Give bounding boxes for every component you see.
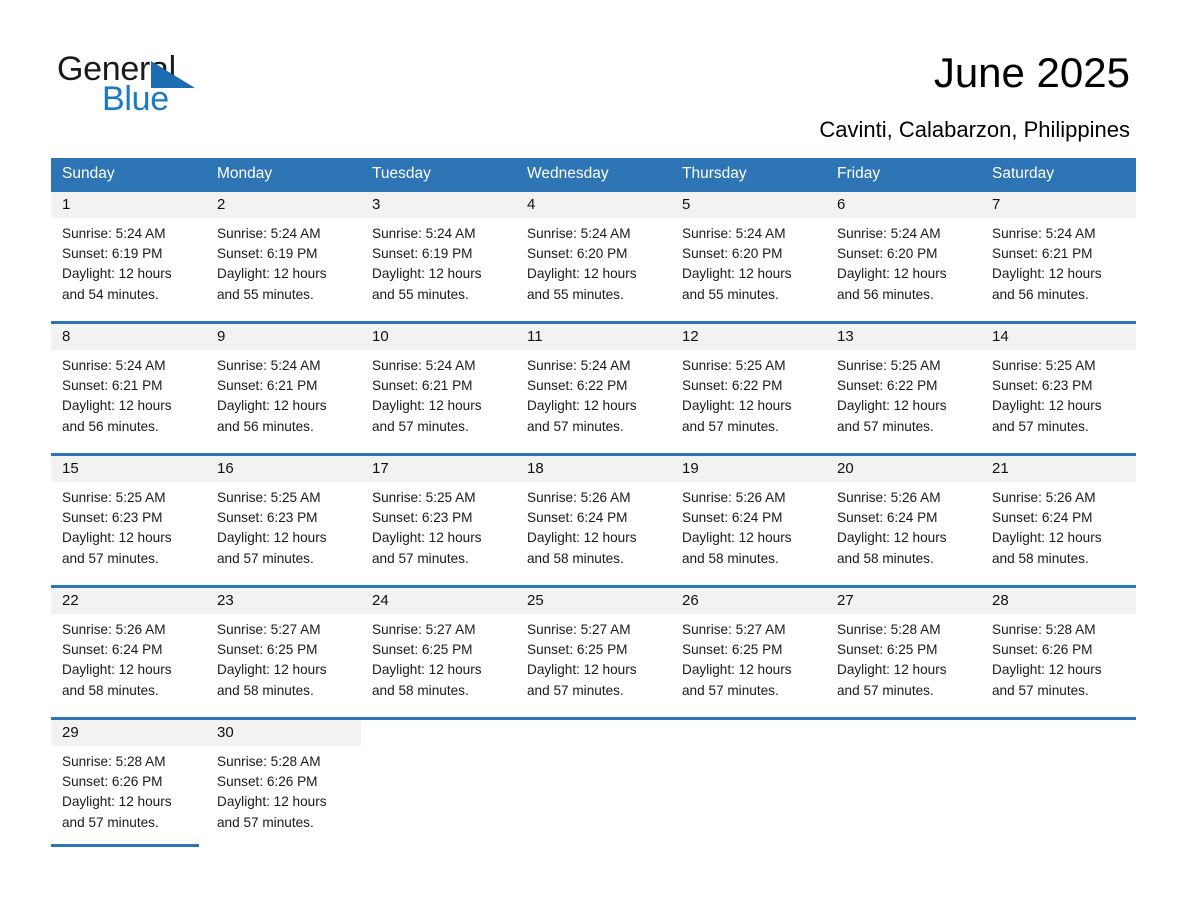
sunrise-text: Sunrise: 5:25 AM xyxy=(837,356,970,376)
sunset-text: Sunset: 6:23 PM xyxy=(992,376,1125,396)
sunset-text: Sunset: 6:20 PM xyxy=(527,244,660,264)
sunset-text: Sunset: 6:19 PM xyxy=(217,244,350,264)
day-details: Sunrise: 5:24 AMSunset: 6:21 PMDaylight:… xyxy=(981,218,1136,305)
sunrise-text: Sunrise: 5:26 AM xyxy=(62,620,195,640)
day-details: Sunrise: 5:25 AMSunset: 6:22 PMDaylight:… xyxy=(671,350,826,437)
daylight-text: Daylight: 12 hours and 57 minutes. xyxy=(992,396,1125,436)
sunrise-text: Sunrise: 5:24 AM xyxy=(682,224,815,244)
sunset-text: Sunset: 6:24 PM xyxy=(682,508,815,528)
calendar-day-cell-empty xyxy=(981,720,1136,844)
calendar-week-row: 22Sunrise: 5:26 AMSunset: 6:24 PMDayligh… xyxy=(51,585,1136,717)
day-number: 6 xyxy=(826,192,981,218)
daylight-text: Daylight: 12 hours and 55 minutes. xyxy=(217,264,350,304)
calendar-page: General Blue June 2025 Cavinti, Calabarz… xyxy=(0,0,1188,918)
calendar-day-cell[interactable]: 28Sunrise: 5:28 AMSunset: 6:26 PMDayligh… xyxy=(981,588,1136,717)
daylight-text: Daylight: 12 hours and 58 minutes. xyxy=(217,660,350,700)
daylight-text: Daylight: 12 hours and 57 minutes. xyxy=(217,792,350,832)
sunset-text: Sunset: 6:26 PM xyxy=(62,772,195,792)
weekday-header-wednesday: Wednesday xyxy=(516,158,671,189)
daylight-text: Daylight: 12 hours and 58 minutes. xyxy=(62,660,195,700)
weekday-header-tuesday: Tuesday xyxy=(361,158,516,189)
calendar-day-cell[interactable]: 19Sunrise: 5:26 AMSunset: 6:24 PMDayligh… xyxy=(671,456,826,585)
daylight-text: Daylight: 12 hours and 56 minutes. xyxy=(992,264,1125,304)
grid-bottom-rule xyxy=(51,844,199,847)
day-number: 14 xyxy=(981,324,1136,350)
calendar-day-cell[interactable]: 8Sunrise: 5:24 AMSunset: 6:21 PMDaylight… xyxy=(51,324,206,453)
day-details: Sunrise: 5:25 AMSunset: 6:23 PMDaylight:… xyxy=(981,350,1136,437)
daylight-text: Daylight: 12 hours and 55 minutes. xyxy=(372,264,505,304)
daylight-text: Daylight: 12 hours and 57 minutes. xyxy=(682,396,815,436)
calendar-day-cell-empty xyxy=(826,720,981,844)
calendar-day-cell[interactable]: 18Sunrise: 5:26 AMSunset: 6:24 PMDayligh… xyxy=(516,456,671,585)
calendar-day-cell[interactable]: 12Sunrise: 5:25 AMSunset: 6:22 PMDayligh… xyxy=(671,324,826,453)
sunset-text: Sunset: 6:22 PM xyxy=(527,376,660,396)
calendar-day-cell[interactable]: 3Sunrise: 5:24 AMSunset: 6:19 PMDaylight… xyxy=(361,192,516,321)
day-number: 3 xyxy=(361,192,516,218)
daylight-text: Daylight: 12 hours and 58 minutes. xyxy=(527,528,660,568)
day-details: Sunrise: 5:25 AMSunset: 6:23 PMDaylight:… xyxy=(51,482,206,569)
day-number xyxy=(361,720,516,746)
calendar-day-cell[interactable]: 20Sunrise: 5:26 AMSunset: 6:24 PMDayligh… xyxy=(826,456,981,585)
calendar-day-cell[interactable]: 21Sunrise: 5:26 AMSunset: 6:24 PMDayligh… xyxy=(981,456,1136,585)
sunset-text: Sunset: 6:24 PM xyxy=(62,640,195,660)
page-title: June 2025 xyxy=(934,48,1130,98)
day-number: 22 xyxy=(51,588,206,614)
daylight-text: Daylight: 12 hours and 57 minutes. xyxy=(837,396,970,436)
day-number: 30 xyxy=(206,720,361,746)
daylight-text: Daylight: 12 hours and 54 minutes. xyxy=(62,264,195,304)
sunset-text: Sunset: 6:21 PM xyxy=(372,376,505,396)
sunrise-text: Sunrise: 5:25 AM xyxy=(217,488,350,508)
day-number: 7 xyxy=(981,192,1136,218)
day-details: Sunrise: 5:24 AMSunset: 6:21 PMDaylight:… xyxy=(51,350,206,437)
daylight-text: Daylight: 12 hours and 57 minutes. xyxy=(372,396,505,436)
sunset-text: Sunset: 6:25 PM xyxy=(372,640,505,660)
sunset-text: Sunset: 6:21 PM xyxy=(217,376,350,396)
day-details: Sunrise: 5:25 AMSunset: 6:23 PMDaylight:… xyxy=(361,482,516,569)
day-number xyxy=(981,720,1136,746)
calendar-week-row: 8Sunrise: 5:24 AMSunset: 6:21 PMDaylight… xyxy=(51,321,1136,453)
calendar-week-row: 15Sunrise: 5:25 AMSunset: 6:23 PMDayligh… xyxy=(51,453,1136,585)
calendar-weeks: 1Sunrise: 5:24 AMSunset: 6:19 PMDaylight… xyxy=(51,189,1136,844)
day-number: 2 xyxy=(206,192,361,218)
day-details: Sunrise: 5:24 AMSunset: 6:20 PMDaylight:… xyxy=(826,218,981,305)
daylight-text: Daylight: 12 hours and 57 minutes. xyxy=(527,660,660,700)
day-number: 10 xyxy=(361,324,516,350)
day-number: 25 xyxy=(516,588,671,614)
day-details: Sunrise: 5:26 AMSunset: 6:24 PMDaylight:… xyxy=(671,482,826,569)
day-details: Sunrise: 5:24 AMSunset: 6:21 PMDaylight:… xyxy=(361,350,516,437)
day-number: 21 xyxy=(981,456,1136,482)
weekday-header-friday: Friday xyxy=(826,158,981,189)
sunset-text: Sunset: 6:25 PM xyxy=(217,640,350,660)
day-details: Sunrise: 5:24 AMSunset: 6:22 PMDaylight:… xyxy=(516,350,671,437)
day-number: 17 xyxy=(361,456,516,482)
sunset-text: Sunset: 6:23 PM xyxy=(62,508,195,528)
day-details: Sunrise: 5:24 AMSunset: 6:19 PMDaylight:… xyxy=(206,218,361,305)
sunset-text: Sunset: 6:21 PM xyxy=(62,376,195,396)
sunrise-text: Sunrise: 5:26 AM xyxy=(527,488,660,508)
calendar-day-cell[interactable]: 7Sunrise: 5:24 AMSunset: 6:21 PMDaylight… xyxy=(981,192,1136,321)
day-number: 24 xyxy=(361,588,516,614)
day-number: 26 xyxy=(671,588,826,614)
daylight-text: Daylight: 12 hours and 58 minutes. xyxy=(682,528,815,568)
sunrise-text: Sunrise: 5:24 AM xyxy=(527,224,660,244)
day-details: Sunrise: 5:24 AMSunset: 6:19 PMDaylight:… xyxy=(51,218,206,305)
day-details: Sunrise: 5:28 AMSunset: 6:26 PMDaylight:… xyxy=(981,614,1136,701)
sunrise-text: Sunrise: 5:24 AM xyxy=(992,224,1125,244)
sunrise-text: Sunrise: 5:25 AM xyxy=(992,356,1125,376)
calendar-day-cell[interactable]: 1Sunrise: 5:24 AMSunset: 6:19 PMDaylight… xyxy=(51,192,206,321)
day-number: 11 xyxy=(516,324,671,350)
sunrise-text: Sunrise: 5:25 AM xyxy=(372,488,505,508)
day-number: 8 xyxy=(51,324,206,350)
sunset-text: Sunset: 6:23 PM xyxy=(217,508,350,528)
weekday-header-row: Sunday Monday Tuesday Wednesday Thursday… xyxy=(51,158,1136,189)
sunset-text: Sunset: 6:22 PM xyxy=(837,376,970,396)
day-details: Sunrise: 5:26 AMSunset: 6:24 PMDaylight:… xyxy=(826,482,981,569)
sunset-text: Sunset: 6:26 PM xyxy=(992,640,1125,660)
calendar-day-cell[interactable]: 16Sunrise: 5:25 AMSunset: 6:23 PMDayligh… xyxy=(206,456,361,585)
calendar-day-cell-empty xyxy=(671,720,826,844)
calendar-day-cell[interactable]: 13Sunrise: 5:25 AMSunset: 6:22 PMDayligh… xyxy=(826,324,981,453)
general-blue-logo[interactable]: General Blue xyxy=(57,50,357,120)
sunrise-text: Sunrise: 5:24 AM xyxy=(217,356,350,376)
daylight-text: Daylight: 12 hours and 58 minutes. xyxy=(372,660,505,700)
sunrise-text: Sunrise: 5:25 AM xyxy=(682,356,815,376)
sunrise-text: Sunrise: 5:25 AM xyxy=(62,488,195,508)
sunset-text: Sunset: 6:24 PM xyxy=(992,508,1125,528)
calendar-day-cell[interactable]: 4Sunrise: 5:24 AMSunset: 6:20 PMDaylight… xyxy=(516,192,671,321)
sunset-text: Sunset: 6:19 PM xyxy=(372,244,505,264)
sunrise-text: Sunrise: 5:26 AM xyxy=(682,488,815,508)
calendar-day-cell[interactable]: 15Sunrise: 5:25 AMSunset: 6:23 PMDayligh… xyxy=(51,456,206,585)
weekday-header-sunday: Sunday xyxy=(51,158,206,189)
daylight-text: Daylight: 12 hours and 56 minutes. xyxy=(837,264,970,304)
day-details: Sunrise: 5:24 AMSunset: 6:20 PMDaylight:… xyxy=(516,218,671,305)
sunrise-text: Sunrise: 5:24 AM xyxy=(837,224,970,244)
daylight-text: Daylight: 12 hours and 57 minutes. xyxy=(682,660,815,700)
sunset-text: Sunset: 6:20 PM xyxy=(682,244,815,264)
day-number: 19 xyxy=(671,456,826,482)
day-details: Sunrise: 5:28 AMSunset: 6:26 PMDaylight:… xyxy=(51,746,206,833)
daylight-text: Daylight: 12 hours and 57 minutes. xyxy=(217,528,350,568)
sunrise-text: Sunrise: 5:26 AM xyxy=(837,488,970,508)
sunrise-text: Sunrise: 5:28 AM xyxy=(992,620,1125,640)
calendar-day-cell[interactable]: 27Sunrise: 5:28 AMSunset: 6:25 PMDayligh… xyxy=(826,588,981,717)
day-details: Sunrise: 5:27 AMSunset: 6:25 PMDaylight:… xyxy=(516,614,671,701)
day-details: Sunrise: 5:27 AMSunset: 6:25 PMDaylight:… xyxy=(206,614,361,701)
sunset-text: Sunset: 6:19 PM xyxy=(62,244,195,264)
location-subtitle: Cavinti, Calabarzon, Philippines xyxy=(819,116,1130,144)
day-details: Sunrise: 5:27 AMSunset: 6:25 PMDaylight:… xyxy=(671,614,826,701)
sunset-text: Sunset: 6:22 PM xyxy=(682,376,815,396)
day-number: 16 xyxy=(206,456,361,482)
sunset-text: Sunset: 6:25 PM xyxy=(837,640,970,660)
calendar-week-row: 29Sunrise: 5:28 AMSunset: 6:26 PMDayligh… xyxy=(51,717,1136,844)
sunset-text: Sunset: 6:21 PM xyxy=(992,244,1125,264)
sunrise-text: Sunrise: 5:27 AM xyxy=(217,620,350,640)
daylight-text: Daylight: 12 hours and 57 minutes. xyxy=(837,660,970,700)
daylight-text: Daylight: 12 hours and 57 minutes. xyxy=(62,528,195,568)
weekday-header-monday: Monday xyxy=(206,158,361,189)
day-details: Sunrise: 5:26 AMSunset: 6:24 PMDaylight:… xyxy=(981,482,1136,569)
calendar-day-cell[interactable]: 25Sunrise: 5:27 AMSunset: 6:25 PMDayligh… xyxy=(516,588,671,717)
day-number xyxy=(516,720,671,746)
calendar-day-cell[interactable]: 10Sunrise: 5:24 AMSunset: 6:21 PMDayligh… xyxy=(361,324,516,453)
day-details: Sunrise: 5:26 AMSunset: 6:24 PMDaylight:… xyxy=(516,482,671,569)
sunrise-text: Sunrise: 5:28 AM xyxy=(217,752,350,772)
page-header: General Blue June 2025 Cavinti, Calabarz… xyxy=(0,0,1188,158)
day-number: 27 xyxy=(826,588,981,614)
daylight-text: Daylight: 12 hours and 57 minutes. xyxy=(527,396,660,436)
calendar-day-cell[interactable]: 24Sunrise: 5:27 AMSunset: 6:25 PMDayligh… xyxy=(361,588,516,717)
daylight-text: Daylight: 12 hours and 57 minutes. xyxy=(372,528,505,568)
day-number: 9 xyxy=(206,324,361,350)
calendar-day-cell[interactable]: 6Sunrise: 5:24 AMSunset: 6:20 PMDaylight… xyxy=(826,192,981,321)
sunset-text: Sunset: 6:25 PM xyxy=(682,640,815,660)
day-number: 1 xyxy=(51,192,206,218)
calendar-day-cell[interactable]: 29Sunrise: 5:28 AMSunset: 6:26 PMDayligh… xyxy=(51,720,206,844)
calendar-day-cell-empty xyxy=(516,720,671,844)
daylight-text: Daylight: 12 hours and 56 minutes. xyxy=(217,396,350,436)
sunrise-text: Sunrise: 5:27 AM xyxy=(372,620,505,640)
day-number: 13 xyxy=(826,324,981,350)
calendar-day-cell[interactable]: 14Sunrise: 5:25 AMSunset: 6:23 PMDayligh… xyxy=(981,324,1136,453)
calendar-week-row: 1Sunrise: 5:24 AMSunset: 6:19 PMDaylight… xyxy=(51,189,1136,321)
day-details: Sunrise: 5:26 AMSunset: 6:24 PMDaylight:… xyxy=(51,614,206,701)
day-details: Sunrise: 5:25 AMSunset: 6:22 PMDaylight:… xyxy=(826,350,981,437)
sunset-text: Sunset: 6:24 PM xyxy=(837,508,970,528)
calendar-day-cell[interactable]: 17Sunrise: 5:25 AMSunset: 6:23 PMDayligh… xyxy=(361,456,516,585)
day-number xyxy=(826,720,981,746)
sunset-text: Sunset: 6:25 PM xyxy=(527,640,660,660)
day-details: Sunrise: 5:24 AMSunset: 6:21 PMDaylight:… xyxy=(206,350,361,437)
day-number: 5 xyxy=(671,192,826,218)
calendar-day-cell[interactable]: 11Sunrise: 5:24 AMSunset: 6:22 PMDayligh… xyxy=(516,324,671,453)
sunrise-text: Sunrise: 5:28 AM xyxy=(62,752,195,772)
day-number: 15 xyxy=(51,456,206,482)
day-details: Sunrise: 5:25 AMSunset: 6:23 PMDaylight:… xyxy=(206,482,361,569)
calendar-day-cell[interactable]: 23Sunrise: 5:27 AMSunset: 6:25 PMDayligh… xyxy=(206,588,361,717)
sunrise-text: Sunrise: 5:24 AM xyxy=(372,224,505,244)
daylight-text: Daylight: 12 hours and 58 minutes. xyxy=(837,528,970,568)
day-details: Sunrise: 5:27 AMSunset: 6:25 PMDaylight:… xyxy=(361,614,516,701)
calendar-day-cell-empty xyxy=(361,720,516,844)
calendar-day-cell[interactable]: 26Sunrise: 5:27 AMSunset: 6:25 PMDayligh… xyxy=(671,588,826,717)
sunset-text: Sunset: 6:20 PM xyxy=(837,244,970,264)
day-number: 20 xyxy=(826,456,981,482)
sunset-text: Sunset: 6:24 PM xyxy=(527,508,660,528)
sunrise-sunset-calendar: Sunday Monday Tuesday Wednesday Thursday… xyxy=(51,158,1136,847)
sunrise-text: Sunrise: 5:27 AM xyxy=(682,620,815,640)
sunrise-text: Sunrise: 5:27 AM xyxy=(527,620,660,640)
logo-text-blue: Blue xyxy=(102,80,169,118)
day-number: 12 xyxy=(671,324,826,350)
calendar-day-cell[interactable]: 22Sunrise: 5:26 AMSunset: 6:24 PMDayligh… xyxy=(51,588,206,717)
day-number: 28 xyxy=(981,588,1136,614)
day-details: Sunrise: 5:24 AMSunset: 6:19 PMDaylight:… xyxy=(361,218,516,305)
day-details: Sunrise: 5:24 AMSunset: 6:20 PMDaylight:… xyxy=(671,218,826,305)
day-details: Sunrise: 5:28 AMSunset: 6:26 PMDaylight:… xyxy=(206,746,361,833)
day-number: 29 xyxy=(51,720,206,746)
calendar-day-cell[interactable]: 9Sunrise: 5:24 AMSunset: 6:21 PMDaylight… xyxy=(206,324,361,453)
daylight-text: Daylight: 12 hours and 55 minutes. xyxy=(527,264,660,304)
sunset-text: Sunset: 6:26 PM xyxy=(217,772,350,792)
sunset-text: Sunset: 6:23 PM xyxy=(372,508,505,528)
daylight-text: Daylight: 12 hours and 57 minutes. xyxy=(62,792,195,832)
day-number: 4 xyxy=(516,192,671,218)
sunrise-text: Sunrise: 5:26 AM xyxy=(992,488,1125,508)
day-details: Sunrise: 5:28 AMSunset: 6:25 PMDaylight:… xyxy=(826,614,981,701)
daylight-text: Daylight: 12 hours and 57 minutes. xyxy=(992,660,1125,700)
calendar-day-cell[interactable]: 30Sunrise: 5:28 AMSunset: 6:26 PMDayligh… xyxy=(206,720,361,844)
calendar-day-cell[interactable]: 2Sunrise: 5:24 AMSunset: 6:19 PMDaylight… xyxy=(206,192,361,321)
day-number: 18 xyxy=(516,456,671,482)
sunrise-text: Sunrise: 5:24 AM xyxy=(62,356,195,376)
day-number xyxy=(671,720,826,746)
sunrise-text: Sunrise: 5:24 AM xyxy=(217,224,350,244)
sunrise-text: Sunrise: 5:28 AM xyxy=(837,620,970,640)
daylight-text: Daylight: 12 hours and 56 minutes. xyxy=(62,396,195,436)
sunrise-text: Sunrise: 5:24 AM xyxy=(527,356,660,376)
sunrise-text: Sunrise: 5:24 AM xyxy=(372,356,505,376)
daylight-text: Daylight: 12 hours and 55 minutes. xyxy=(682,264,815,304)
weekday-header-thursday: Thursday xyxy=(671,158,826,189)
calendar-day-cell[interactable]: 5Sunrise: 5:24 AMSunset: 6:20 PMDaylight… xyxy=(671,192,826,321)
sunrise-text: Sunrise: 5:24 AM xyxy=(62,224,195,244)
day-number: 23 xyxy=(206,588,361,614)
daylight-text: Daylight: 12 hours and 58 minutes. xyxy=(992,528,1125,568)
weekday-header-saturday: Saturday xyxy=(981,158,1136,189)
